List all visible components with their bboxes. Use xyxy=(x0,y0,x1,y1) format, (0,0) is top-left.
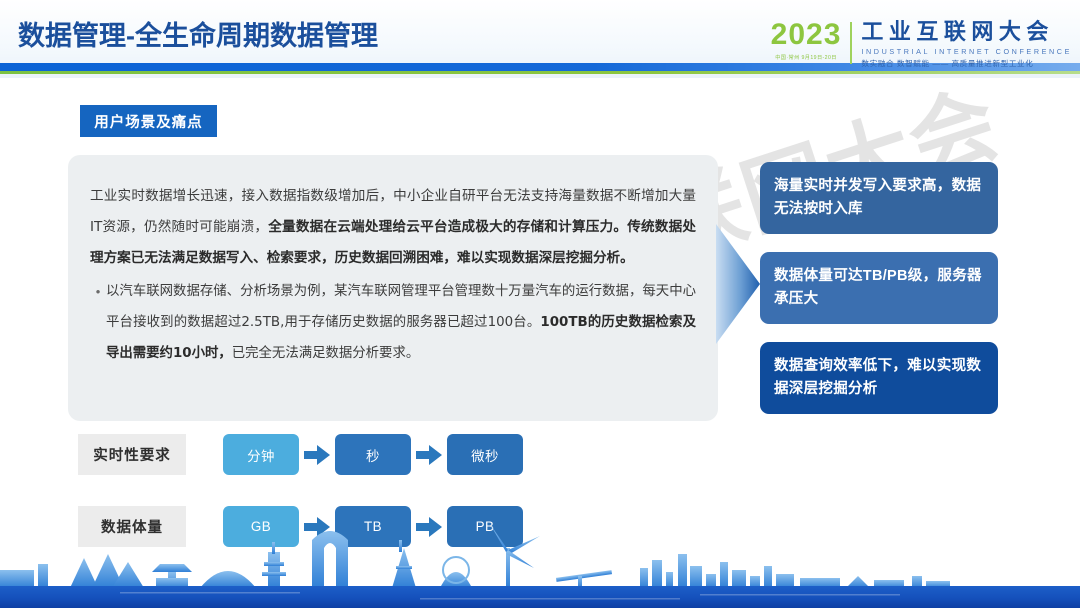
flow-step-microsecond: 微秒 xyxy=(447,434,523,475)
flow-arrow-icon-1 xyxy=(299,434,335,475)
logo-year: 2023 xyxy=(771,20,842,50)
flow-step-minute: 分钟 xyxy=(223,434,299,475)
flow-arrow-icon-2 xyxy=(411,434,447,475)
section-tag-user-scenario: 用户场景及痛点 xyxy=(80,105,217,137)
right-pointing-arrow-icon xyxy=(716,224,760,344)
city-skyline-decoration-icon xyxy=(0,518,1080,608)
conference-logo: 2023 中国·常州 9月19日-20日 工业互联网大会 INDUSTRIAL … xyxy=(771,20,1072,72)
main-text-panel: 工业实时数据增长迅速，接入数据指数级增加后，中小企业自研平台无法支持海量数据不断… xyxy=(68,155,718,421)
callout-box-3: 数据查询效率低下，难以实现数据深层挖掘分析 xyxy=(760,342,998,414)
bullet-marker-icon: • xyxy=(90,276,106,369)
flow-label-realtime: 实时性要求 xyxy=(78,434,186,475)
flow-step-second: 秒 xyxy=(335,434,411,475)
main-paragraph: 工业实时数据增长迅速，接入数据指数级增加后，中小企业自研平台无法支持海量数据不断… xyxy=(90,181,696,274)
page-title: 数据管理-全生命周期数据管理 xyxy=(18,14,378,53)
logo-name-block: 工业互联网大会 INDUSTRIAL INTERNET CONFERENCE 数… xyxy=(852,20,1072,69)
bullet-text: 以汽车联网数据存储、分析场景为例，某汽车联网管理平台管理数十万量汽车的运行数据，… xyxy=(106,276,696,369)
logo-year-subtext: 中国·常州 9月19日-20日 xyxy=(771,54,842,61)
callout-box-2: 数据体量可达TB/PB级，服务器承压大 xyxy=(760,252,998,324)
flow-row-realtime: 实时性要求 分钟 秒 微秒 xyxy=(78,434,523,475)
logo-tagline: 数实融合 数智赋能 —— 高质量推进新型工业化 xyxy=(861,58,1072,69)
bullet-item: • 以汽车联网数据存储、分析场景为例，某汽车联网管理平台管理数十万量汽车的运行数… xyxy=(90,276,696,369)
logo-name-cn: 工业互联网大会 xyxy=(861,20,1072,44)
callout-box-1: 海量实时并发写入要求高，数据无法按时入库 xyxy=(760,162,998,234)
slide-canvas: 数据管理-全生命周期数据管理 2023 中国·常州 9月19日-20日 工业互联… xyxy=(0,0,1080,608)
logo-year-block: 2023 中国·常州 9月19日-20日 xyxy=(771,20,851,61)
logo-name-en: INDUSTRIAL INTERNET CONFERENCE xyxy=(861,47,1072,56)
bullet-part-2: 已完全无法满足数据分析要求。 xyxy=(232,346,419,361)
